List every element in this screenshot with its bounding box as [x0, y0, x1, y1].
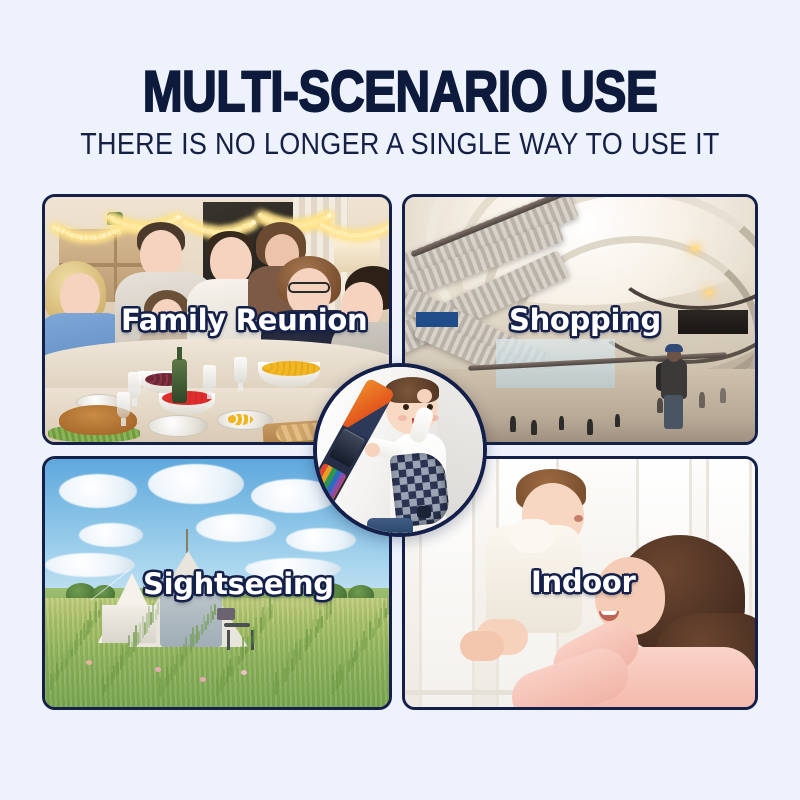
product-hero-circle[interactable]: [313, 363, 487, 537]
page-subtitle: THERE IS NO LONGER A SINGLE WAY TO USE I…: [0, 127, 800, 162]
panel-label-sightseeing: Sightseeing: [45, 567, 389, 601]
tourist-figure: [659, 339, 689, 427]
panel-label-family-reunion: Family Reunion: [45, 303, 389, 337]
promo-banner: MULTI-SCENARIO USE THERE IS NO LONGER A …: [0, 0, 800, 800]
header: MULTI-SCENARIO USE THERE IS NO LONGER A …: [0, 0, 800, 158]
panel-label-shopping: Shopping: [405, 303, 755, 337]
baby-highchair-illustration: [317, 367, 483, 533]
panel-label-indoor: Indoor: [405, 565, 755, 599]
page-title: MULTI-SCENARIO USE: [0, 62, 800, 119]
